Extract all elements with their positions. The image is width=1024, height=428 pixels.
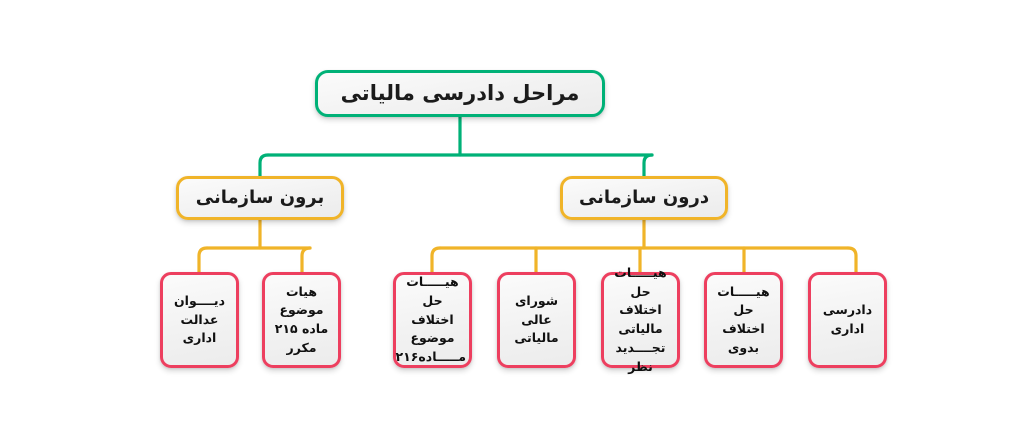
org-chart-diagram: مراحل دادرسی مالیاتی برون سازمانی درون س…: [0, 0, 1024, 428]
leaf-node-label: هیات موضوع ماده ۲۱۵ مکرر: [268, 283, 335, 358]
leaf-node-label: هیـــــات حل اختلاف موضوع مـــــاده۲۱۶: [399, 273, 466, 367]
leaf-node-label: دیــــوان عدالت اداری: [166, 292, 233, 348]
leaf-node-court-of-administrative-justice[interactable]: دیــــوان عدالت اداری: [160, 272, 239, 368]
leaf-node-label: هیـــــات حل اختلاف مالیاتی تجــــدید نظ…: [607, 264, 674, 377]
leaf-node-primary-dispute-board[interactable]: هیـــــات حل اختلاف بدوی: [704, 272, 783, 368]
leaf-node-board-article-215-repeated[interactable]: هیات موضوع ماده ۲۱۵ مکرر: [262, 272, 341, 368]
connector-mid-1-to-leaf-2: [432, 248, 440, 272]
leaf-node-label: هیـــــات حل اختلاف بدوی: [710, 283, 777, 358]
leaf-node-administrative-litigation[interactable]: دادرسی اداری: [808, 272, 887, 368]
connector-root-to-mid-1: [644, 155, 652, 176]
connector-mid-0-to-leaf-0: [199, 248, 207, 272]
root-node-tax-litigation-stages[interactable]: مراحل دادرسی مالیاتی: [315, 70, 605, 117]
root-node-label: مراحل دادرسی مالیاتی: [318, 82, 602, 105]
connector-mid-0-to-leaf-1: [302, 248, 310, 272]
leaf-node-dispute-board-article-216[interactable]: هیـــــات حل اختلاف موضوع مـــــاده۲۱۶: [393, 272, 472, 368]
connector-mid-1-to-leaf-6: [848, 248, 856, 272]
leaf-node-label: دادرسی اداری: [814, 301, 881, 339]
mid-node-label: درون سازمانی: [563, 188, 725, 208]
leaf-node-supreme-tax-council[interactable]: شورای عالی مالیاتی: [497, 272, 576, 368]
mid-node-outside-organization[interactable]: برون سازمانی: [176, 176, 344, 220]
leaf-node-label: شورای عالی مالیاتی: [503, 292, 570, 348]
connector-root-to-mid-0: [260, 155, 268, 176]
leaf-node-tax-dispute-appeal-board[interactable]: هیـــــات حل اختلاف مالیاتی تجــــدید نظ…: [601, 272, 680, 368]
mid-node-inside-organization[interactable]: درون سازمانی: [560, 176, 728, 220]
mid-node-label: برون سازمانی: [179, 188, 341, 208]
